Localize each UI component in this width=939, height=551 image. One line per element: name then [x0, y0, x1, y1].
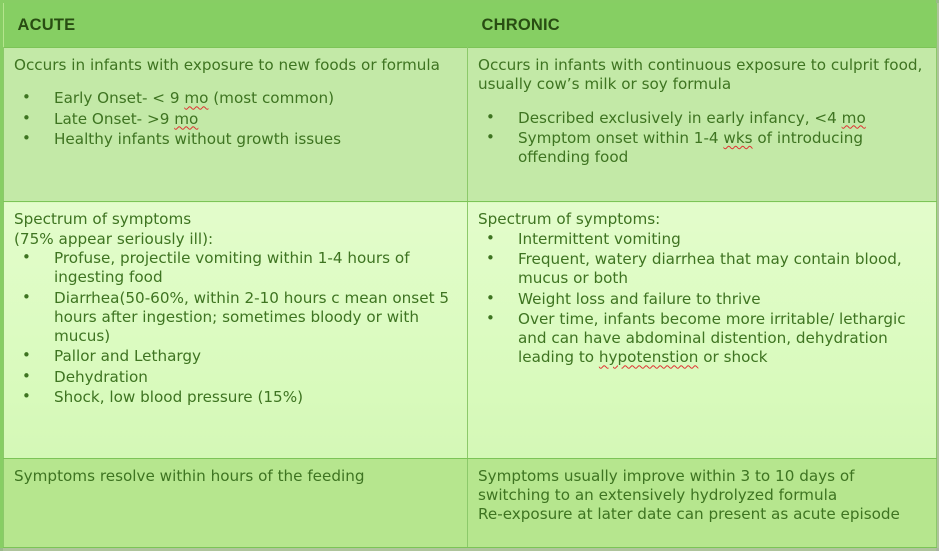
bullet-text-pre: Symptom onset within 1-4 — [518, 129, 723, 147]
list-item: Dehydration — [14, 368, 455, 387]
list-item: Diarrhea(50-60%, within 2-10 hours c mea… — [14, 289, 455, 347]
bullet-text-pre: Healthy infants without growth issues — [54, 130, 341, 148]
cell-acute-resolution: Symptoms resolve within hours of the fee… — [4, 458, 468, 547]
list-item: Over time, infants become more irritable… — [478, 310, 924, 368]
cell-acute-symptoms: Spectrum of symptoms (75% appear serious… — [4, 202, 468, 458]
spellcheck-word: wks — [723, 129, 752, 147]
list-item: Healthy infants without growth issues — [14, 130, 455, 149]
bullet-text-pre: Dehydration — [54, 368, 148, 386]
bullet-text-pre: Weight loss and failure to thrive — [518, 290, 761, 308]
list-item: Profuse, projectile vomiting within 1-4 … — [14, 249, 455, 288]
bullet-text-pre: Profuse, projectile vomiting within 1-4 … — [54, 249, 410, 286]
bullet-list: Described exclusively in early infancy, … — [478, 109, 924, 168]
cell-lead-text: Occurs in infants with exposure to new f… — [14, 56, 455, 75]
list-item: Symptom onset within 1-4 wks of introduc… — [478, 129, 924, 168]
table-row: Spectrum of symptoms (75% appear serious… — [4, 202, 937, 458]
list-item: Frequent, watery diarrhea that may conta… — [478, 250, 924, 289]
bullet-text-pre: Frequent, watery diarrhea that may conta… — [518, 250, 902, 287]
list-item: Described exclusively in early infancy, … — [478, 109, 924, 128]
cell-lead-text-2: Re-exposure at later date can present as… — [478, 505, 924, 524]
bullet-text-post: or shock — [698, 348, 767, 366]
cell-chronic-symptoms: Spectrum of symptoms: Intermittent vomit… — [468, 202, 937, 458]
column-header-chronic: CHRONIC — [468, 3, 937, 48]
list-item: Late Onset- >9 mo — [14, 110, 455, 129]
bullet-text-pre: Diarrhea(50-60%, within 2-10 hours c mea… — [54, 289, 449, 346]
cell-lead-text: Occurs in infants with continuous exposu… — [478, 56, 924, 95]
list-item: Pallor and Lethargy — [14, 347, 455, 366]
bullet-text-post: (most common) — [208, 89, 334, 107]
cell-chronic-resolution: Symptoms usually improve within 3 to 10 … — [468, 458, 937, 547]
cell-lead-text: Spectrum of symptoms: — [478, 210, 924, 229]
spellcheck-word: hypotenstion — [599, 348, 698, 366]
cell-lead-text: Symptoms usually improve within 3 to 10 … — [478, 467, 924, 506]
bullet-list: Profuse, projectile vomiting within 1-4 … — [14, 249, 455, 407]
spacer — [478, 95, 924, 109]
bullet-list: Intermittent vomiting Frequent, watery d… — [478, 230, 924, 368]
bullet-text-pre: Early Onset- < 9 — [54, 89, 184, 107]
spellcheck-word: mo — [842, 109, 866, 127]
cell-lead-text: Symptoms resolve within hours of the fee… — [14, 467, 455, 486]
table-row: Symptoms resolve within hours of the fee… — [4, 458, 937, 547]
cell-lead-text: Spectrum of symptoms — [14, 210, 455, 229]
spellcheck-word: mo — [174, 110, 198, 128]
cell-lead-text-2: (75% appear seriously ill): — [14, 230, 455, 249]
table-row: Occurs in infants with exposure to new f… — [4, 48, 937, 202]
comparison-table-slide: ACUTE CHRONIC Occurs in infants with exp… — [0, 0, 939, 551]
spacer — [14, 75, 455, 89]
spellcheck-word: mo — [184, 89, 208, 107]
bullet-list: Early Onset- < 9 mo (most common) Late O… — [14, 89, 455, 149]
table-header-row: ACUTE CHRONIC — [4, 3, 937, 48]
list-item: Shock, low blood pressure (15%) — [14, 388, 455, 407]
list-item: Intermittent vomiting — [478, 230, 924, 249]
bullet-text-pre: Shock, low blood pressure (15%) — [54, 388, 303, 406]
column-header-acute: ACUTE — [4, 3, 468, 48]
list-item: Early Onset- < 9 mo (most common) — [14, 89, 455, 108]
cell-chronic-onset: Occurs in infants with continuous exposu… — [468, 48, 937, 202]
bullet-text-pre: Late Onset- >9 — [54, 110, 174, 128]
acute-vs-chronic-table: ACUTE CHRONIC Occurs in infants with exp… — [3, 3, 937, 548]
list-item: Weight loss and failure to thrive — [478, 290, 924, 309]
bullet-text-pre: Intermittent vomiting — [518, 230, 681, 248]
bullet-text-pre: Pallor and Lethargy — [54, 347, 201, 365]
cell-acute-onset: Occurs in infants with exposure to new f… — [4, 48, 468, 202]
bullet-text-pre: Described exclusively in early infancy, … — [518, 109, 842, 127]
